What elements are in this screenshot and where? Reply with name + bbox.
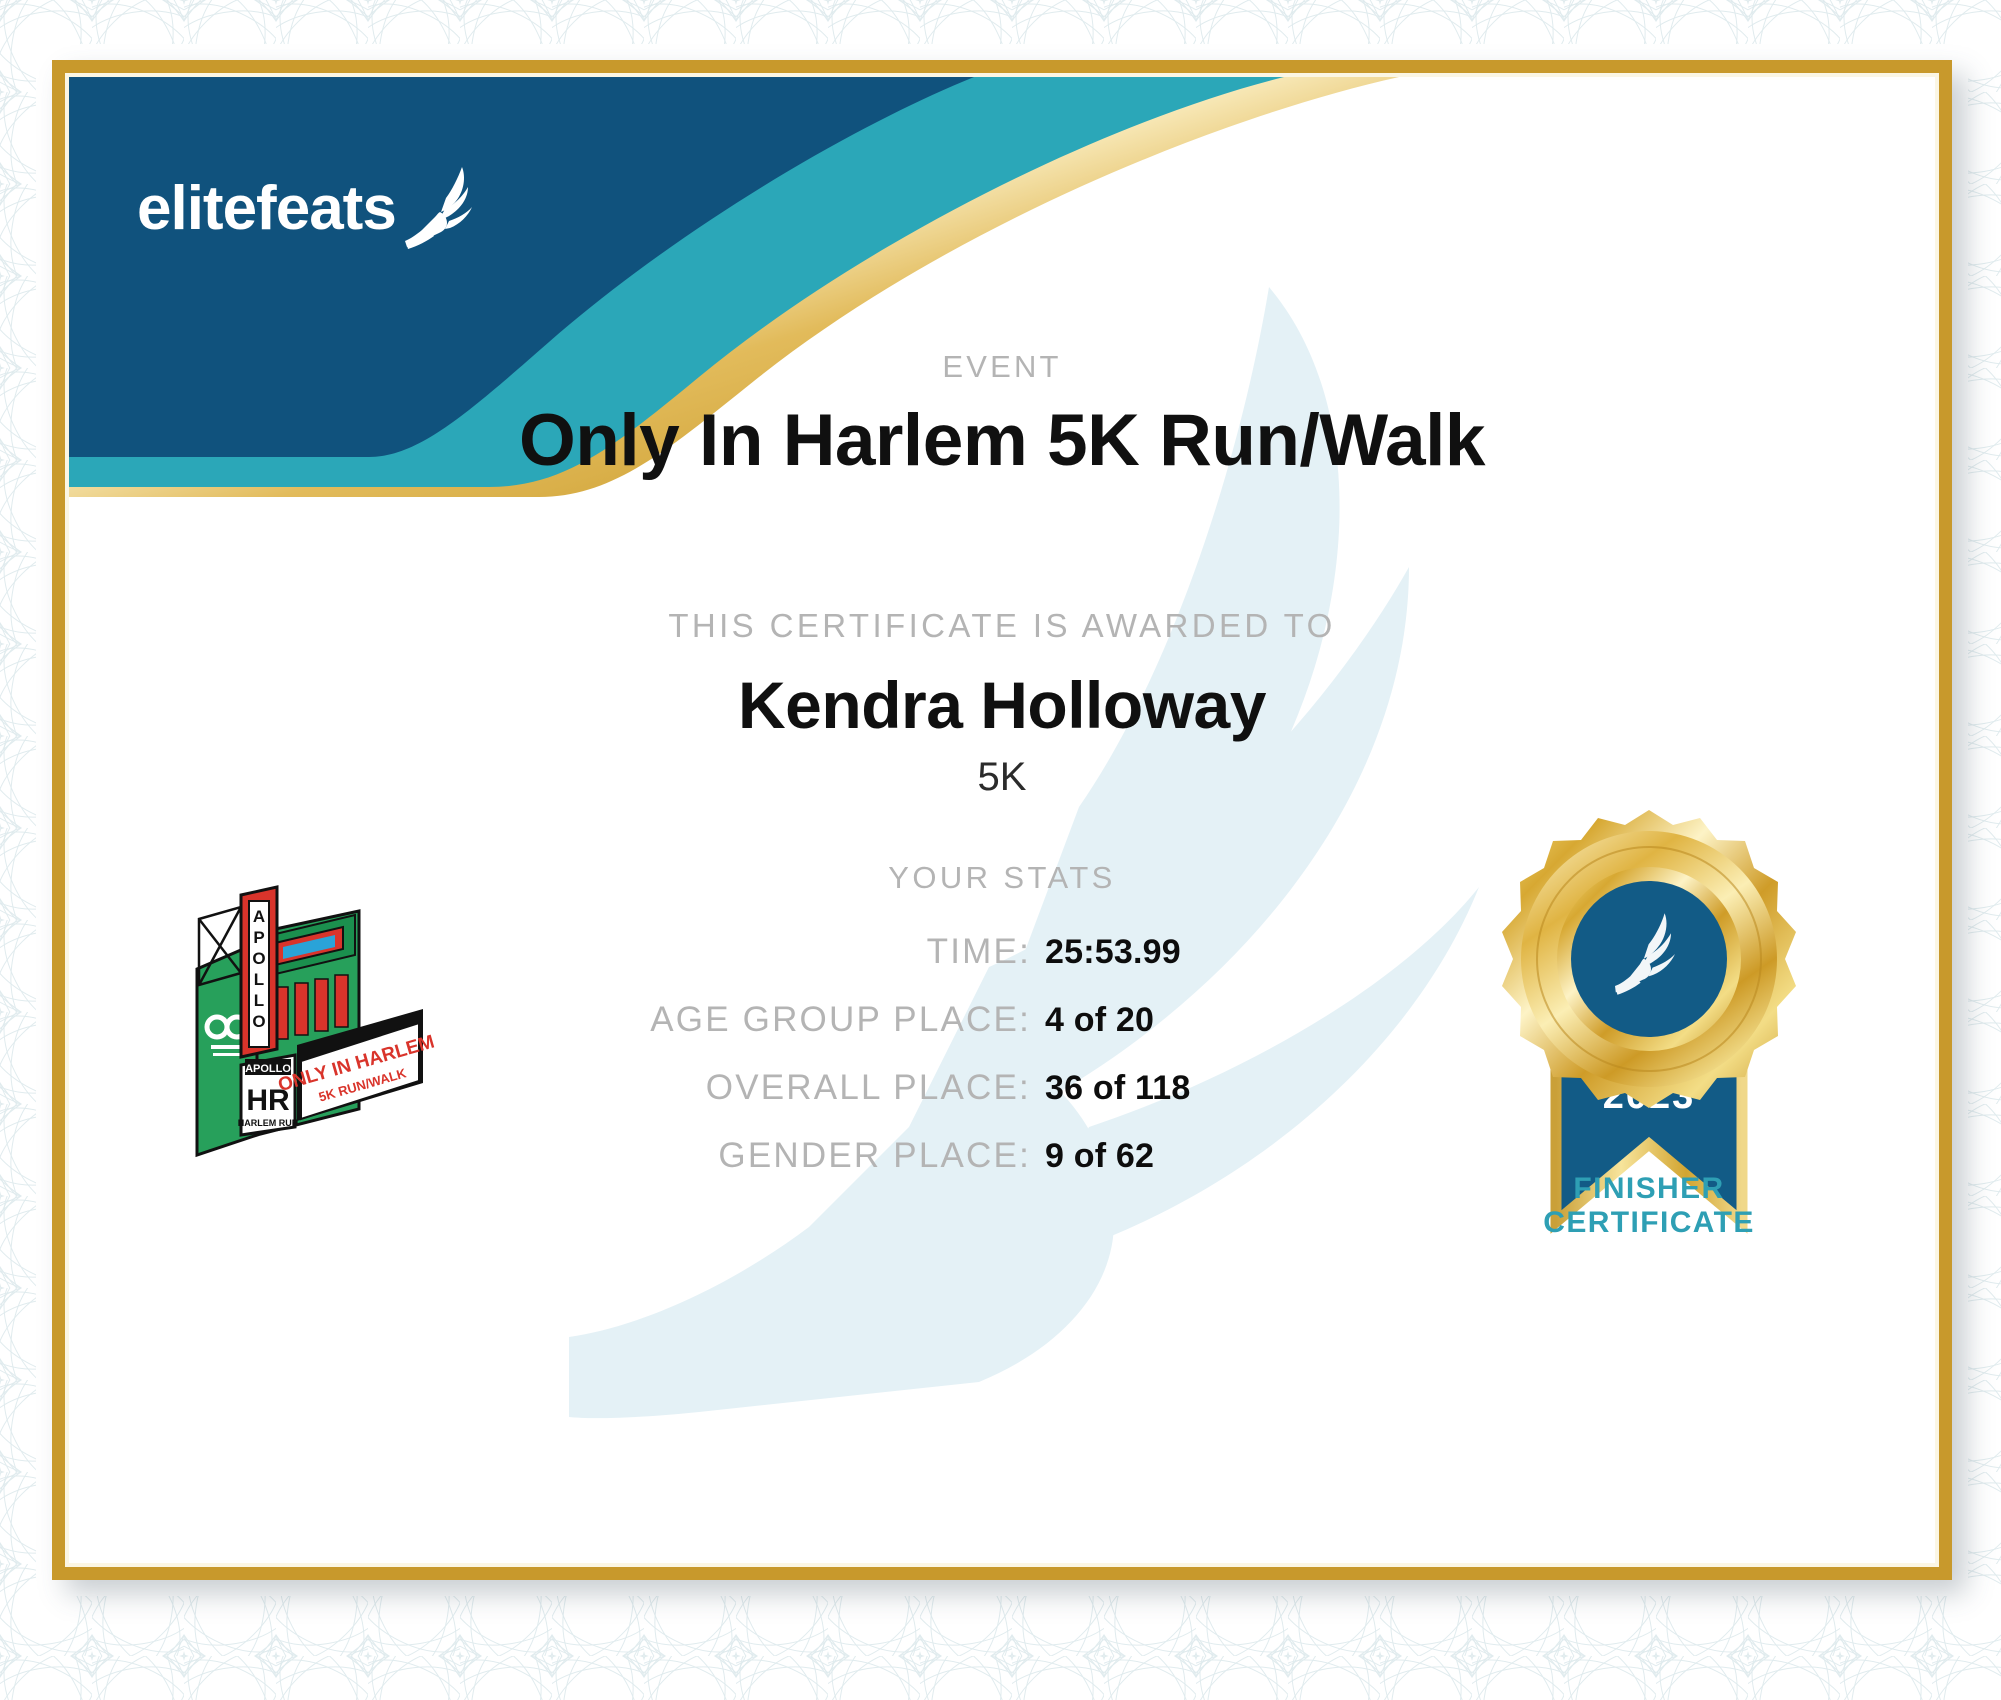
stat-value: 25:53.99 bbox=[1045, 933, 1181, 972]
recipient-name: Kendra Holloway bbox=[69, 667, 1935, 743]
stat-value: 36 of 118 bbox=[1045, 1069, 1190, 1108]
elitefeats-logo: elitefeats bbox=[137, 165, 480, 251]
svg-text:HARLEM RUN: HARLEM RUN bbox=[238, 1118, 299, 1128]
awarded-to-caption: THIS CERTIFICATE IS AWARDED TO bbox=[69, 607, 1935, 645]
winged-foot-icon bbox=[402, 165, 480, 251]
apollo-theater-marquee-icon: APO LLO APOLLO HR HARLEM RUN bbox=[179, 877, 439, 1167]
stat-value: 9 of 62 bbox=[1045, 1137, 1154, 1176]
svg-text:L: L bbox=[254, 991, 264, 1010]
svg-text:A: A bbox=[253, 907, 265, 926]
certificate-cream-inner-line: elitefeats EVENT bbox=[65, 73, 1939, 1567]
svg-text:L: L bbox=[254, 970, 264, 989]
badge-caption-line1: FINISHER bbox=[1474, 1172, 1824, 1206]
certificate-page: elitefeats EVENT bbox=[0, 0, 2001, 1700]
svg-text:O: O bbox=[252, 1012, 265, 1031]
badge-caption: FINISHER CERTIFICATE bbox=[1474, 1172, 1824, 1239]
badge-caption-line2: CERTIFICATE bbox=[1474, 1206, 1824, 1240]
stat-value: 4 of 20 bbox=[1045, 1001, 1154, 1040]
certificate-content: EVENT Only In Harlem 5K Run/Walk THIS CE… bbox=[69, 77, 1935, 1563]
svg-text:O: O bbox=[252, 949, 265, 968]
event-title: Only In Harlem 5K Run/Walk bbox=[69, 399, 1935, 482]
brand-name: elitefeats bbox=[137, 173, 396, 244]
certificate-gold-border: elitefeats EVENT bbox=[52, 60, 1952, 1580]
svg-text:P: P bbox=[253, 928, 264, 947]
event-caption: EVENT bbox=[69, 349, 1935, 385]
certificate-body: elitefeats EVENT bbox=[69, 77, 1935, 1563]
